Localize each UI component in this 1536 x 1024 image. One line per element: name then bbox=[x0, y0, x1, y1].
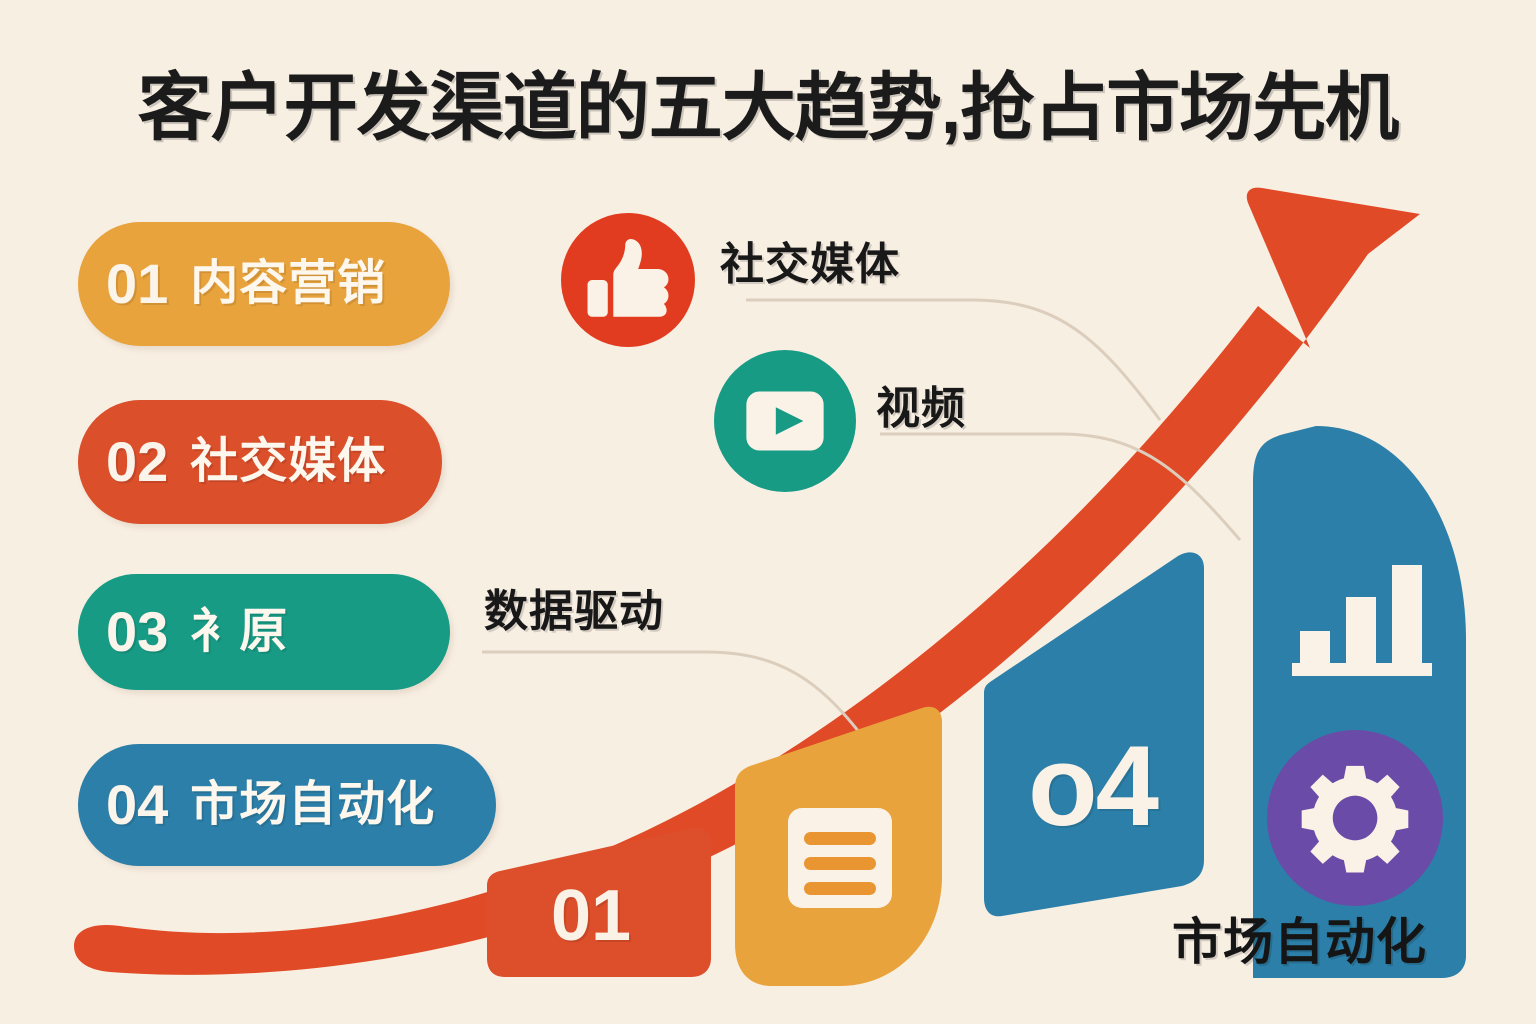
bar-1-number: 01 bbox=[551, 880, 631, 952]
bar-4-number: o4 bbox=[1028, 730, 1157, 844]
gear-badge bbox=[1267, 730, 1443, 906]
pill-label: 社交媒体 bbox=[190, 438, 386, 486]
pill-number: 03 bbox=[106, 604, 168, 660]
callout-label-social-media: 社交媒体 bbox=[720, 228, 900, 292]
infographic-canvas: 客户开发渠道的五大趋势,抢占市场先机 01 o4 bbox=[0, 0, 1536, 1024]
pill-number: 01 bbox=[106, 256, 168, 312]
thumbs-up-badge bbox=[561, 213, 695, 347]
pill-item-04[interactable]: 04 市场自动化 bbox=[78, 744, 496, 866]
callout-label-data-driven: 数据驱动 bbox=[484, 575, 664, 639]
pill-label: 市场自动化 bbox=[190, 781, 435, 829]
bar-chart-icon bbox=[1286, 555, 1438, 691]
callout-label-video: 视频 bbox=[876, 372, 966, 436]
bottom-label-marketing-automation: 市场自动化 bbox=[1172, 902, 1427, 974]
thumbs-up-icon bbox=[582, 234, 674, 326]
pill-label: 内容营销 bbox=[190, 260, 386, 308]
pill-item-01[interactable]: 01 内容营销 bbox=[78, 222, 450, 346]
pill-item-02[interactable]: 02 社交媒体 bbox=[78, 400, 442, 524]
play-video-badge bbox=[714, 350, 856, 492]
pill-label: 衤原 bbox=[190, 608, 288, 656]
pill-item-03[interactable]: 03 衤原 bbox=[78, 574, 450, 690]
document-lines-icon bbox=[786, 806, 894, 910]
pill-number: 02 bbox=[106, 434, 168, 490]
pill-number: 04 bbox=[106, 777, 168, 833]
gear-icon bbox=[1293, 756, 1417, 880]
play-video-icon bbox=[739, 375, 831, 467]
